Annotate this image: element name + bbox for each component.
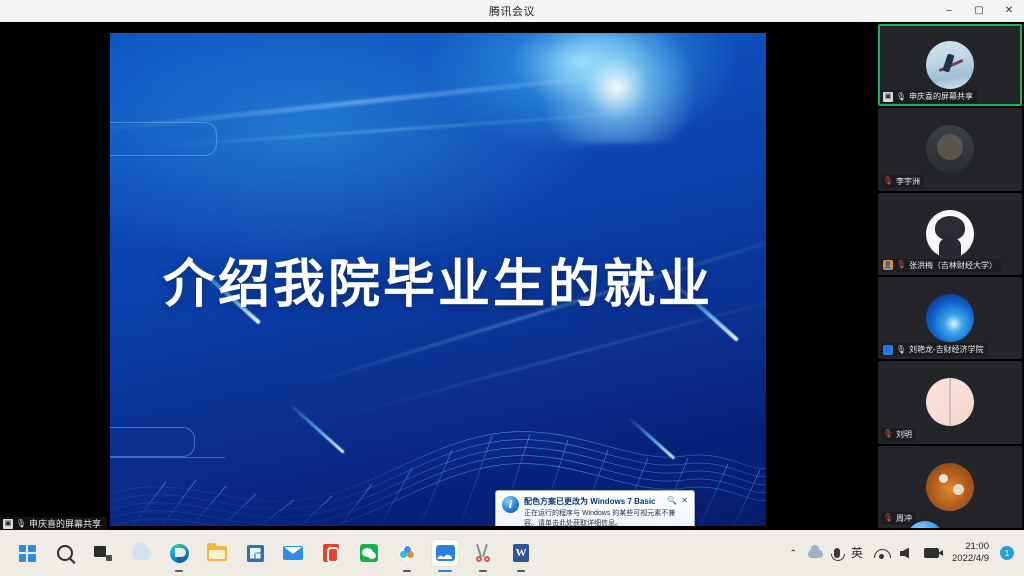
participant-label: 👤 🎙 刘艳龙-吉财经济学院	[881, 343, 988, 356]
close-icon[interactable]: ✕	[681, 496, 688, 506]
info-icon: i	[502, 496, 519, 513]
microphone-icon: 🎙	[896, 92, 906, 102]
avatar	[926, 294, 974, 342]
file-explorer-icon[interactable]	[204, 540, 230, 566]
participant-label: 🎙 周冲	[881, 512, 916, 525]
balloon-header: 配色方案已更改为 Windows 7 Basic 🔍 ✕	[524, 496, 688, 507]
task-view-icon[interactable]	[90, 540, 116, 566]
balloon-title: 配色方案已更改为 Windows 7 Basic	[524, 496, 664, 507]
screen-root: 腾讯会议 – ▢ ✕	[0, 0, 1024, 576]
microphone-icon: 🎙	[896, 345, 906, 355]
meeting-body: 介绍我院毕业生的就业 i 配色方案已更改为 Windows 7 Basic 🔍 …	[0, 22, 1024, 530]
office-icon[interactable]	[318, 540, 344, 566]
volume-icon[interactable]	[900, 548, 913, 559]
taskbar-icons	[0, 540, 534, 566]
participant-name: 张洪梅（吉林财经大学）	[909, 260, 997, 271]
shared-screen-stage[interactable]: 介绍我院毕业生的就业 i 配色方案已更改为 Windows 7 Basic 🔍 …	[0, 22, 876, 530]
chevron-up-icon[interactable]: ⌃	[789, 549, 797, 558]
mic-muted-icon: 🎙	[883, 513, 893, 523]
ime-language-icon[interactable]: 英	[851, 547, 863, 559]
participant-tile-zhang-hongmei[interactable]: 👤 🎙 张洪梅（吉林财经大学）	[878, 193, 1022, 275]
notification-badge[interactable]: 1	[1000, 546, 1014, 560]
wechat-icon[interactable]	[356, 540, 382, 566]
participant-filmstrip[interactable]: ▣ 🎙 申庆喜的屏幕共享 🎙 李宇洲 🎙 正在讲话: 申庆喜;	[876, 22, 1024, 530]
cloud-disk-icon[interactable]	[394, 540, 420, 566]
clock-date: 2022/4/9	[952, 553, 989, 565]
participant-tile-liu-ming[interactable]: 🎙 刘明	[878, 361, 1022, 443]
participant-label: ▣ 🎙 申庆喜的屏幕共享	[881, 90, 977, 103]
window-controls: – ▢ ✕	[934, 0, 1024, 22]
avatar	[926, 463, 974, 511]
participant-name: 刘艳龙-吉财经济学院	[909, 344, 984, 355]
mic-muted-icon: 🎙	[883, 176, 893, 186]
slide-title-text: 介绍我院毕业生的就业	[110, 33, 766, 526]
word-icon[interactable]	[508, 540, 534, 566]
search-icon[interactable]	[52, 540, 78, 566]
balloon-body: 配色方案已更改为 Windows 7 Basic 🔍 ✕ 正在运行的程序与 Wi…	[524, 496, 688, 526]
clock[interactable]: 21:00 2022/4/9	[950, 541, 989, 565]
edge-browser-icon[interactable]	[166, 540, 192, 566]
balloon-text: 正在运行的程序与 Windows 的某些可视元素不兼容。请单击此处获取详细信息。	[524, 509, 688, 526]
avatar	[926, 41, 974, 89]
participant-label: 🎙 李宇洲	[881, 175, 924, 188]
mic-muted-icon: 🎙	[896, 260, 906, 270]
cohost-icon: 👤	[883, 345, 893, 355]
share-badge-label: 申庆喜的屏幕共享	[29, 517, 101, 530]
presentation-slide: 介绍我院毕业生的就业 i 配色方案已更改为 Windows 7 Basic 🔍 …	[110, 33, 766, 526]
close-button[interactable]: ✕	[994, 0, 1024, 22]
mail-icon[interactable]	[280, 540, 306, 566]
system-tray: ⌃ 英 21:00 2022/4/9 1	[789, 541, 1024, 565]
avatar	[926, 125, 974, 173]
participant-name: 申庆喜的屏幕共享	[909, 91, 973, 102]
screen-share-icon: ▣	[883, 92, 893, 102]
clock-time: 21:00	[965, 541, 989, 553]
microphone-tray-icon[interactable]	[834, 548, 840, 558]
onedrive-tray-icon[interactable]	[808, 549, 823, 558]
minimize-button[interactable]: –	[934, 0, 964, 22]
microsoft-store-icon[interactable]	[242, 540, 268, 566]
participant-tile-liu-yanlong[interactable]: 👤 🎙 刘艳龙-吉财经济学院	[878, 277, 1022, 359]
participant-name: 周冲	[896, 513, 912, 524]
tencent-meeting-icon[interactable]	[432, 540, 458, 566]
participant-tile-li-yuzhou[interactable]: 🎙 李宇洲 🎙 正在讲话: 申庆喜;	[878, 108, 1022, 190]
participant-tile-shen-qingxi-share[interactable]: ▣ 🎙 申庆喜的屏幕共享	[878, 24, 1022, 106]
host-icon: 👤	[883, 260, 893, 270]
onedrive-icon[interactable]	[128, 540, 154, 566]
windows-taskbar: ⌃ 英 21:00 2022/4/9 1	[0, 530, 1024, 576]
wifi-icon[interactable]	[874, 548, 889, 559]
participant-name: 刘明	[896, 429, 912, 440]
maximize-button[interactable]: ▢	[964, 0, 994, 22]
window-titlebar: 腾讯会议 – ▢ ✕	[0, 0, 1024, 22]
window-title: 腾讯会议	[489, 3, 535, 19]
screen-share-icon: ▣	[3, 519, 13, 529]
avatar	[926, 378, 974, 426]
balloon-tools: 🔍 ✕	[664, 496, 688, 506]
snipping-tool-icon[interactable]	[470, 540, 496, 566]
microphone-icon: 🎙	[16, 519, 26, 529]
windows-start-icon[interactable]	[14, 540, 40, 566]
avatar	[926, 210, 974, 258]
camera-tray-icon[interactable]	[924, 548, 939, 558]
balloon-search-icon[interactable]: 🔍	[667, 496, 677, 506]
participant-label: 👤 🎙 张洪梅（吉林财经大学）	[881, 259, 1001, 272]
participant-label: 🎙 刘明	[881, 428, 916, 441]
windows-notification-balloon[interactable]: i 配色方案已更改为 Windows 7 Basic 🔍 ✕ 正在运行的程序与 …	[495, 490, 695, 526]
mic-muted-icon: 🎙	[883, 429, 893, 439]
participant-name: 李宇洲	[896, 176, 920, 187]
screen-share-status-badge: ▣ 🎙 申庆喜的屏幕共享	[0, 517, 107, 530]
participant-tile-zhou-chong[interactable]: 114:15 🎙 周冲	[878, 446, 1022, 528]
